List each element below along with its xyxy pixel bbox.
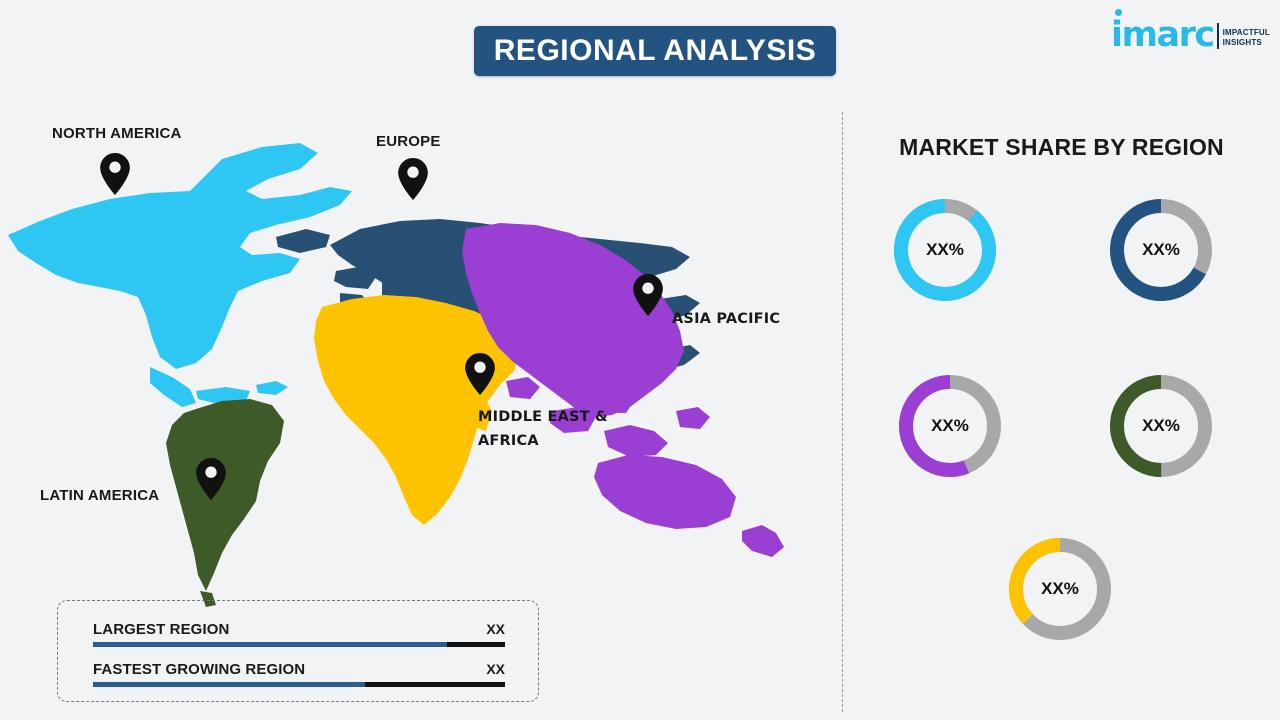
map-pin-latin-america-icon[interactable]: [196, 458, 226, 500]
map-label-middle-east-africa: MIDDLE EAST & AFRICA: [478, 405, 608, 453]
map-region-asia-pacific: [462, 223, 784, 557]
page-title-banner: REGIONAL ANALYSIS: [474, 26, 836, 76]
stat-row-largest-region: LARGEST REGION XX: [93, 621, 505, 647]
logo-wordmark-text: imarc: [1111, 15, 1214, 55]
logo-tagline-line2: INSIGHTS: [1223, 38, 1270, 48]
map-region-latin-america: [166, 399, 284, 607]
page-title: REGIONAL ANALYSIS: [494, 34, 816, 68]
map-label-latin-america: LATIN AMERICA: [40, 487, 159, 504]
stat-label-fastest-growing-region: FASTEST GROWING REGION: [93, 661, 305, 678]
regional-analysis-slide: REGIONAL ANALYSIS imarc IMPACTFUL INSIGH…: [0, 0, 1280, 720]
stat-progress-track-fastest-growing-region: [93, 682, 505, 687]
donut-north-america: XX%: [887, 192, 1003, 308]
map-region-north-america: [8, 143, 352, 407]
donut-middle-east-africa: XX%: [1002, 531, 1118, 647]
stat-progress-track-largest-region: [93, 642, 505, 647]
map-pin-north-america-icon[interactable]: [100, 153, 130, 195]
stat-row-fastest-growing-region: FASTEST GROWING REGION XX: [93, 661, 505, 687]
logo-divider: [1217, 23, 1219, 49]
donut-value-arc: [901, 206, 989, 294]
map-label-north-america: NORTH AMERICA: [52, 125, 182, 142]
map-label-asia-pacific: ASIA PACIFIC: [672, 311, 780, 327]
donut-asia-pacific: XX%: [892, 368, 1008, 484]
donut-latin-america: XX%: [1103, 368, 1219, 484]
map-pin-europe-icon[interactable]: [398, 158, 428, 200]
logo-dot-icon: [1115, 9, 1122, 16]
map-pin-asia-pacific-icon[interactable]: [633, 274, 663, 316]
stat-progress-fill-fastest-growing-region: [93, 682, 365, 687]
stat-head: LARGEST REGION XX: [93, 621, 505, 638]
market-share-title: MARKET SHARE BY REGION: [843, 134, 1280, 161]
stat-value-largest-region: XX: [486, 621, 505, 637]
region-stats-box: LARGEST REGION XX FASTEST GROWING REGION…: [57, 600, 539, 702]
map-label-europe: EUROPE: [376, 133, 441, 150]
logo-tagline-line1: IMPACTFUL: [1223, 28, 1270, 38]
stat-label-largest-region: LARGEST REGION: [93, 621, 229, 638]
stat-progress-fill-largest-region: [93, 642, 447, 647]
map-pin-middle-east-africa-icon[interactable]: [465, 353, 495, 395]
stat-value-fastest-growing-region: XX: [486, 661, 505, 677]
stat-head: FASTEST GROWING REGION XX: [93, 661, 505, 678]
imarc-logo: imarc IMPACTFUL INSIGHTS: [1111, 12, 1270, 52]
donut-europe: XX%: [1103, 192, 1219, 308]
logo-wordmark: imarc: [1111, 18, 1214, 52]
logo-tagline: IMPACTFUL INSIGHTS: [1223, 28, 1270, 52]
